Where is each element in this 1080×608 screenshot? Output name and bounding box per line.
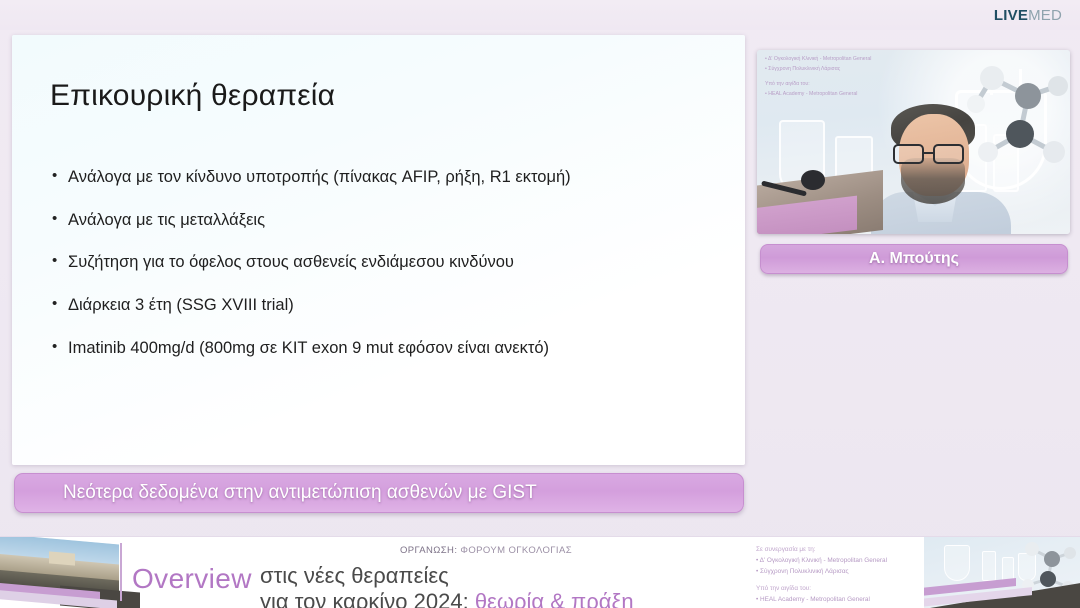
- event-brand: Overview: [132, 563, 252, 595]
- list-item: • Συζήτηση για το όφελος στους ασθενείς …: [52, 252, 725, 273]
- microphone-icon: [761, 170, 825, 200]
- speaker-name-plate: Α. Μπούτης: [760, 244, 1068, 274]
- aegis-item: • HEAL Academy - Metropolitan General: [756, 595, 931, 606]
- overlay-line: • Σύγχρονη Πολυκλινική Λάρισας: [765, 65, 970, 75]
- flask-icon: [944, 545, 970, 581]
- aegis-heading: Υπό την αιγίδα του:: [756, 584, 931, 595]
- theme-line-2: για τον καρκίνο 2024: θεωρία & πράξη: [260, 589, 634, 608]
- session-title: Νεότερα δεδομένα στην αντιμετώπιση ασθεν…: [63, 482, 537, 504]
- organizer-label: ΟΡΓΑΝΩΣΗ:: [400, 545, 457, 556]
- parthenon-shape: [49, 551, 75, 565]
- theme-line-1: στις νέες θεραπείες: [260, 563, 449, 588]
- microphone-stem: [761, 181, 807, 197]
- list-item: • Διάρκεια 3 έτη (SSG XVIII trial): [52, 295, 725, 316]
- microphone-head: [801, 170, 825, 190]
- logo-med-text: MED: [1028, 7, 1062, 24]
- speaker-beard: [901, 158, 965, 204]
- session-title-banner: Νεότερα δεδομένα στην αντιμετώπιση ασθεν…: [14, 473, 744, 513]
- glasses-left-lens: [893, 144, 924, 164]
- footer-divider: [120, 543, 122, 601]
- bullet-marker-icon: •: [52, 210, 68, 229]
- video-slide-overlay-text: • Δ' Ογκολογική Κλινική - Metropolitan G…: [765, 55, 970, 100]
- event-footer: Overview ΟΡΓΑΝΩΣΗ: ΦΟΡΟΥΜ ΟΓΚΟΛΟΓΙΑΣ στι…: [0, 536, 1080, 608]
- slide-title: Επικουρική θεραπεία: [50, 79, 335, 113]
- bullet-marker-icon: •: [52, 338, 68, 357]
- bullet-text: Imatinib 400mg/d (800mg σε KIT exon 9 mu…: [68, 338, 725, 359]
- list-item: • Ανάλογα με τις μεταλλάξεις: [52, 210, 725, 231]
- bullet-marker-icon: •: [52, 167, 68, 186]
- presentation-slide[interactable]: Επικουρική θεραπεία • Ανάλογα με τον κίν…: [12, 35, 745, 465]
- overlay-aegis-line: • HEAL Academy - Metropolitan General: [765, 90, 970, 100]
- theme-line-2-plain: για τον καρκίνο 2024:: [260, 589, 475, 608]
- speaker-name: Α. Μπούτης: [869, 250, 959, 268]
- overlay-aegis-heading: Υπό την αιγίδα του:: [765, 80, 970, 90]
- bullet-marker-icon: •: [52, 252, 68, 271]
- bullet-text: Διάρκεια 3 έτη (SSG XVIII trial): [68, 295, 725, 316]
- top-bar: LIVEMED: [0, 0, 1080, 30]
- bullet-text: Ανάλογα με τις μεταλλάξεις: [68, 210, 725, 231]
- bullet-text: Ανάλογα με τον κίνδυνο υποτροπής (πίνακα…: [68, 167, 725, 188]
- event-theme: στις νέες θεραπείες για τον καρκίνο 2024…: [260, 563, 634, 608]
- organizer-name: ΦΟΡΟΥΜ ΟΓΚΟΛΟΓΙΑΣ: [460, 545, 572, 556]
- theme-line-2-highlight: θεωρία & πράξη: [475, 589, 634, 608]
- partners-block: Σε συνεργασία με τη: • Δ' Ογκολογική Κλι…: [756, 545, 931, 605]
- molecule-icon: [1014, 539, 1076, 591]
- speaker-figure: [865, 108, 1005, 234]
- partner-item: • Σύγχρονη Πολυκλινική Λάρισας: [756, 567, 931, 578]
- logo-live-text: LIVE: [994, 7, 1028, 24]
- bullet-text: Συζήτηση για το όφελος στους ασθενείς εν…: [68, 252, 725, 273]
- glasses-bridge: [924, 152, 933, 154]
- test-tube-icon: [982, 551, 996, 581]
- glasses-icon: [893, 144, 973, 164]
- overlay-line: • Δ' Ογκολογική Κλινική - Metropolitan G…: [765, 55, 970, 65]
- organizer-line: ΟΡΓΑΝΩΣΗ: ΦΟΡΟΥΜ ΟΓΚΟΛΟΓΙΑΣ: [400, 545, 572, 556]
- glasses-right-lens: [933, 144, 964, 164]
- partners-heading: Σε συνεργασία με τη:: [756, 545, 931, 556]
- laboratory-image: [924, 537, 1080, 608]
- bullet-marker-icon: •: [52, 295, 68, 314]
- speaker-video-thumbnail[interactable]: • Δ' Ογκολογική Κλινική - Metropolitan G…: [757, 50, 1070, 234]
- livemed-logo: LIVEMED: [994, 7, 1062, 24]
- partner-item: • Δ' Ογκολογική Κλινική - Metropolitan G…: [756, 556, 931, 567]
- list-item: • Imatinib 400mg/d (800mg σε KIT exon 9 …: [52, 338, 725, 359]
- slide-bullet-list: • Ανάλογα με τον κίνδυνο υποτροπής (πίνα…: [52, 167, 725, 380]
- list-item: • Ανάλογα με τον κίνδυνο υποτροπής (πίνα…: [52, 167, 725, 188]
